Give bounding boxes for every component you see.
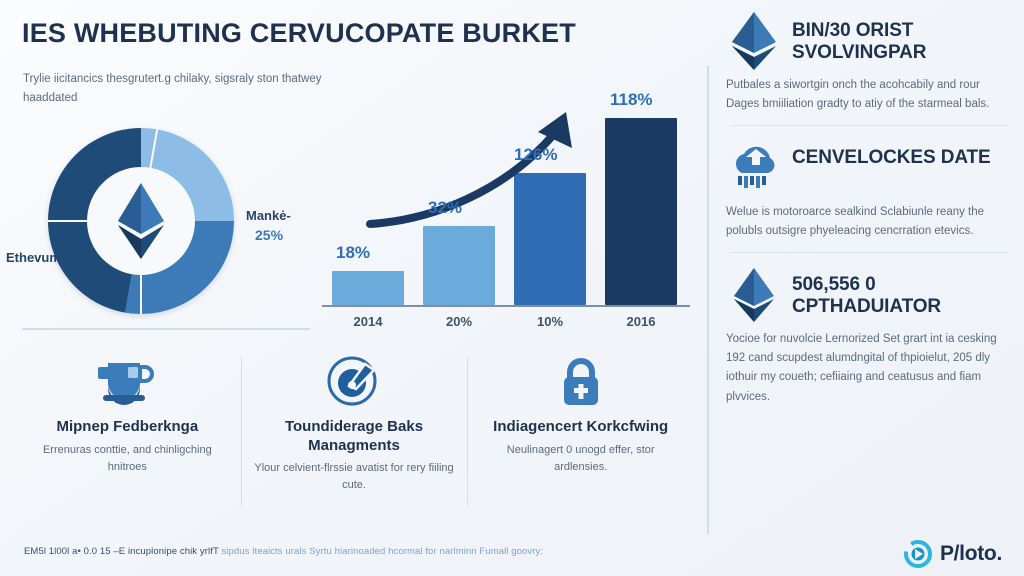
bar-tick-4: 2016 (605, 314, 677, 329)
brand-logo: P/loto. (904, 540, 1002, 568)
feature-body-2: Ylour celvient-flrssie avatist for rery … (253, 460, 456, 494)
sidebar: BIN/30 ORIST SVOLVINGPAR Putbales a siwo… (726, 10, 1014, 530)
gauge-wrench-icon (253, 352, 456, 410)
coffee-cup-icon (26, 352, 229, 410)
section-divider (22, 328, 310, 330)
bar-chart: 18% 32% 126% 118% 2014 20% 10% 2016 (322, 82, 690, 307)
footer-text: EM5l 1l00l a• 0.0 15 –E incuplonipe chik… (24, 546, 543, 557)
main-column: IES WHEBUTING CERVUCOPATE BURKET Trylie … (0, 0, 707, 576)
bar-tick-1: 2014 (332, 314, 404, 329)
donut-label-left: Ethevum (6, 250, 61, 265)
padlock-icon (479, 352, 682, 410)
sidebar-item-1-title: BIN/30 ORIST SVOLVINGPAR (792, 10, 1014, 63)
ethereum-diamond-icon (726, 264, 782, 326)
feature-item-2: Toundiderage Baks Managments Ylour celvi… (241, 352, 468, 522)
bar-1 (332, 271, 404, 305)
ethereum-diamond-icon (114, 181, 168, 261)
feature-title-3: Indiagencert Korkcfwing (479, 418, 682, 437)
sidebar-item-2-title: CENVELOCKES DATE (792, 137, 991, 169)
feature-body-3: Neulinagert 0 unogd effer, stor ardlensi… (479, 442, 682, 476)
sidebar-item-1-body: Putbales a siwortgin onch the acohcabily… (726, 76, 1014, 114)
feature-body-1: Errenuras conttie, and chinligching hnit… (26, 442, 229, 476)
sidebar-item-3-head: 506,556 0 CPTHADUIATOR (726, 264, 1014, 326)
bar-3 (514, 173, 586, 305)
sidebar-item-3-body: Yocioe for nuvolcie Lernorized Set grart… (726, 330, 1014, 406)
sidebar-divider (730, 125, 1010, 126)
vertical-divider (707, 66, 709, 534)
donut-label-right: Mankė- 25% (246, 208, 291, 243)
feature-title-1: Mipnep Fedberknga (26, 418, 229, 437)
page-subtitle: Trylie iicitancics thesgrutert.g chilaky… (23, 70, 323, 107)
sidebar-item-2: CENVELOCKES DATE Welue is motoroarce sea… (726, 137, 1014, 241)
footer: EM5l 1l00l a• 0.0 15 –E incuplonipe chik… (0, 532, 1024, 576)
bar-tick-3: 10% (514, 314, 586, 329)
sidebar-item-2-body: Welue is motoroarce sealkind Sclabiunle … (726, 203, 1014, 241)
sidebar-item-3: 506,556 0 CPTHADUIATOR Yocioe for nuvolc… (726, 264, 1014, 406)
cloud-upload-icon (726, 137, 782, 199)
bar-value-3: 126% (514, 145, 557, 165)
feature-columns: Mipnep Fedberknga Errenuras conttie, and… (14, 352, 694, 522)
footer-text-secondary: sipdus lteaicts urals Syrtu hiarinoaded … (221, 546, 543, 557)
feature-item-3: Indiagencert Korkcfwing Neulinagert 0 un… (467, 352, 694, 522)
sidebar-item-1-head: BIN/30 ORIST SVOLVINGPAR (726, 10, 1014, 72)
bar-tick-2: 20% (423, 314, 495, 329)
donut-label-right-value: 25% (255, 227, 291, 243)
bar-2 (423, 226, 495, 305)
page-title: IES WHEBUTING CERVUCOPATE BURKET (22, 18, 662, 49)
bar-value-2: 32% (428, 198, 462, 218)
bar-axis-line (322, 305, 690, 307)
bar-value-4: 118% (610, 90, 653, 110)
sidebar-item-3-title: 506,556 0 CPTHADUIATOR (792, 264, 1014, 317)
bar-4 (605, 118, 677, 305)
swirl-logo-icon (904, 540, 932, 568)
footer-text-primary: EM5l 1l00l a• 0.0 15 –E incuplonipe chik… (24, 546, 219, 557)
sidebar-item-2-head: CENVELOCKES DATE (726, 137, 1014, 199)
donut-chart (48, 128, 234, 314)
feature-item-1: Mipnep Fedberknga Errenuras conttie, and… (14, 352, 241, 522)
brand-name: P/loto. (940, 542, 1002, 566)
donut-label-right-text: Mankė- (246, 208, 291, 223)
sidebar-item-1: BIN/30 ORIST SVOLVINGPAR Putbales a siwo… (726, 10, 1014, 114)
ethereum-diamond-icon (726, 10, 782, 72)
infographic-poster: IES WHEBUTING CERVUCOPATE BURKET Trylie … (0, 0, 1024, 576)
sidebar-divider (730, 252, 1010, 253)
feature-title-2: Toundiderage Baks Managments (253, 418, 456, 455)
bar-value-1: 18% (336, 243, 370, 263)
